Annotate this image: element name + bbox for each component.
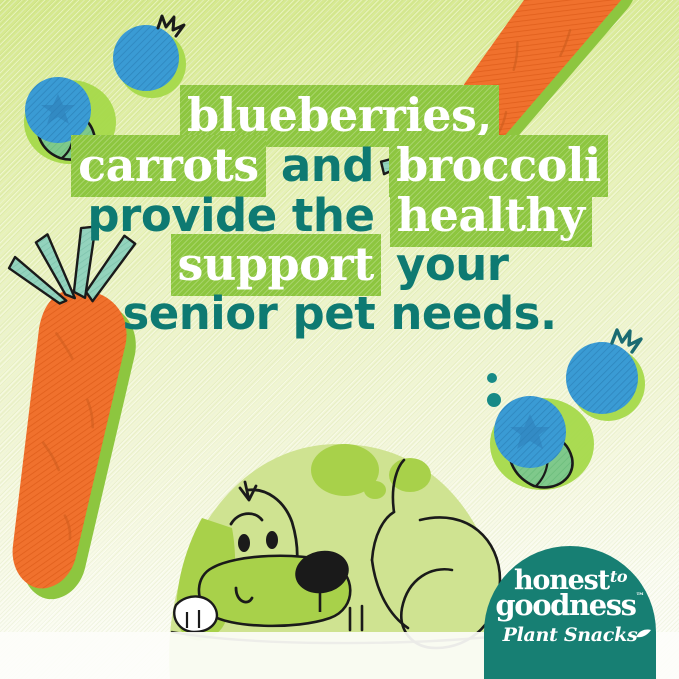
headline-line-1: blueberries, bbox=[0, 92, 679, 140]
headline: blueberries, carrots and broccoli provid… bbox=[0, 92, 679, 340]
brand-logo-to: to bbox=[610, 567, 627, 586]
leaf-icon bbox=[636, 629, 651, 638]
headline-line-5: senior pet needs. bbox=[0, 291, 679, 338]
headline-line-3: provide the healthy bbox=[0, 192, 679, 240]
headline-word-your: your bbox=[381, 238, 509, 291]
marketing-graphic: blueberries, carrots and broccoli provid… bbox=[0, 0, 679, 679]
trademark-symbol: ™ bbox=[636, 592, 645, 602]
brand-logo-line-3: Plant Snacks bbox=[503, 624, 638, 646]
headline-line-2: carrots and broccoli bbox=[0, 142, 679, 190]
brand-logo-line-2: goodness™ bbox=[495, 592, 644, 619]
headline-word-carrots: carrots bbox=[71, 135, 266, 197]
brand-logo-plant-snacks: Plant Snacks bbox=[503, 624, 638, 646]
brand-logo-goodness: goodness bbox=[495, 588, 635, 622]
headline-word-and: and bbox=[266, 139, 389, 192]
brand-logo-badge: honestto goodness™ Plant Snacks bbox=[484, 546, 656, 679]
brand-logo-inner: honestto goodness™ Plant Snacks bbox=[484, 546, 656, 679]
headline-word-senior-pet-needs: senior pet needs. bbox=[122, 287, 556, 340]
headline-line-4: support your bbox=[0, 241, 679, 289]
